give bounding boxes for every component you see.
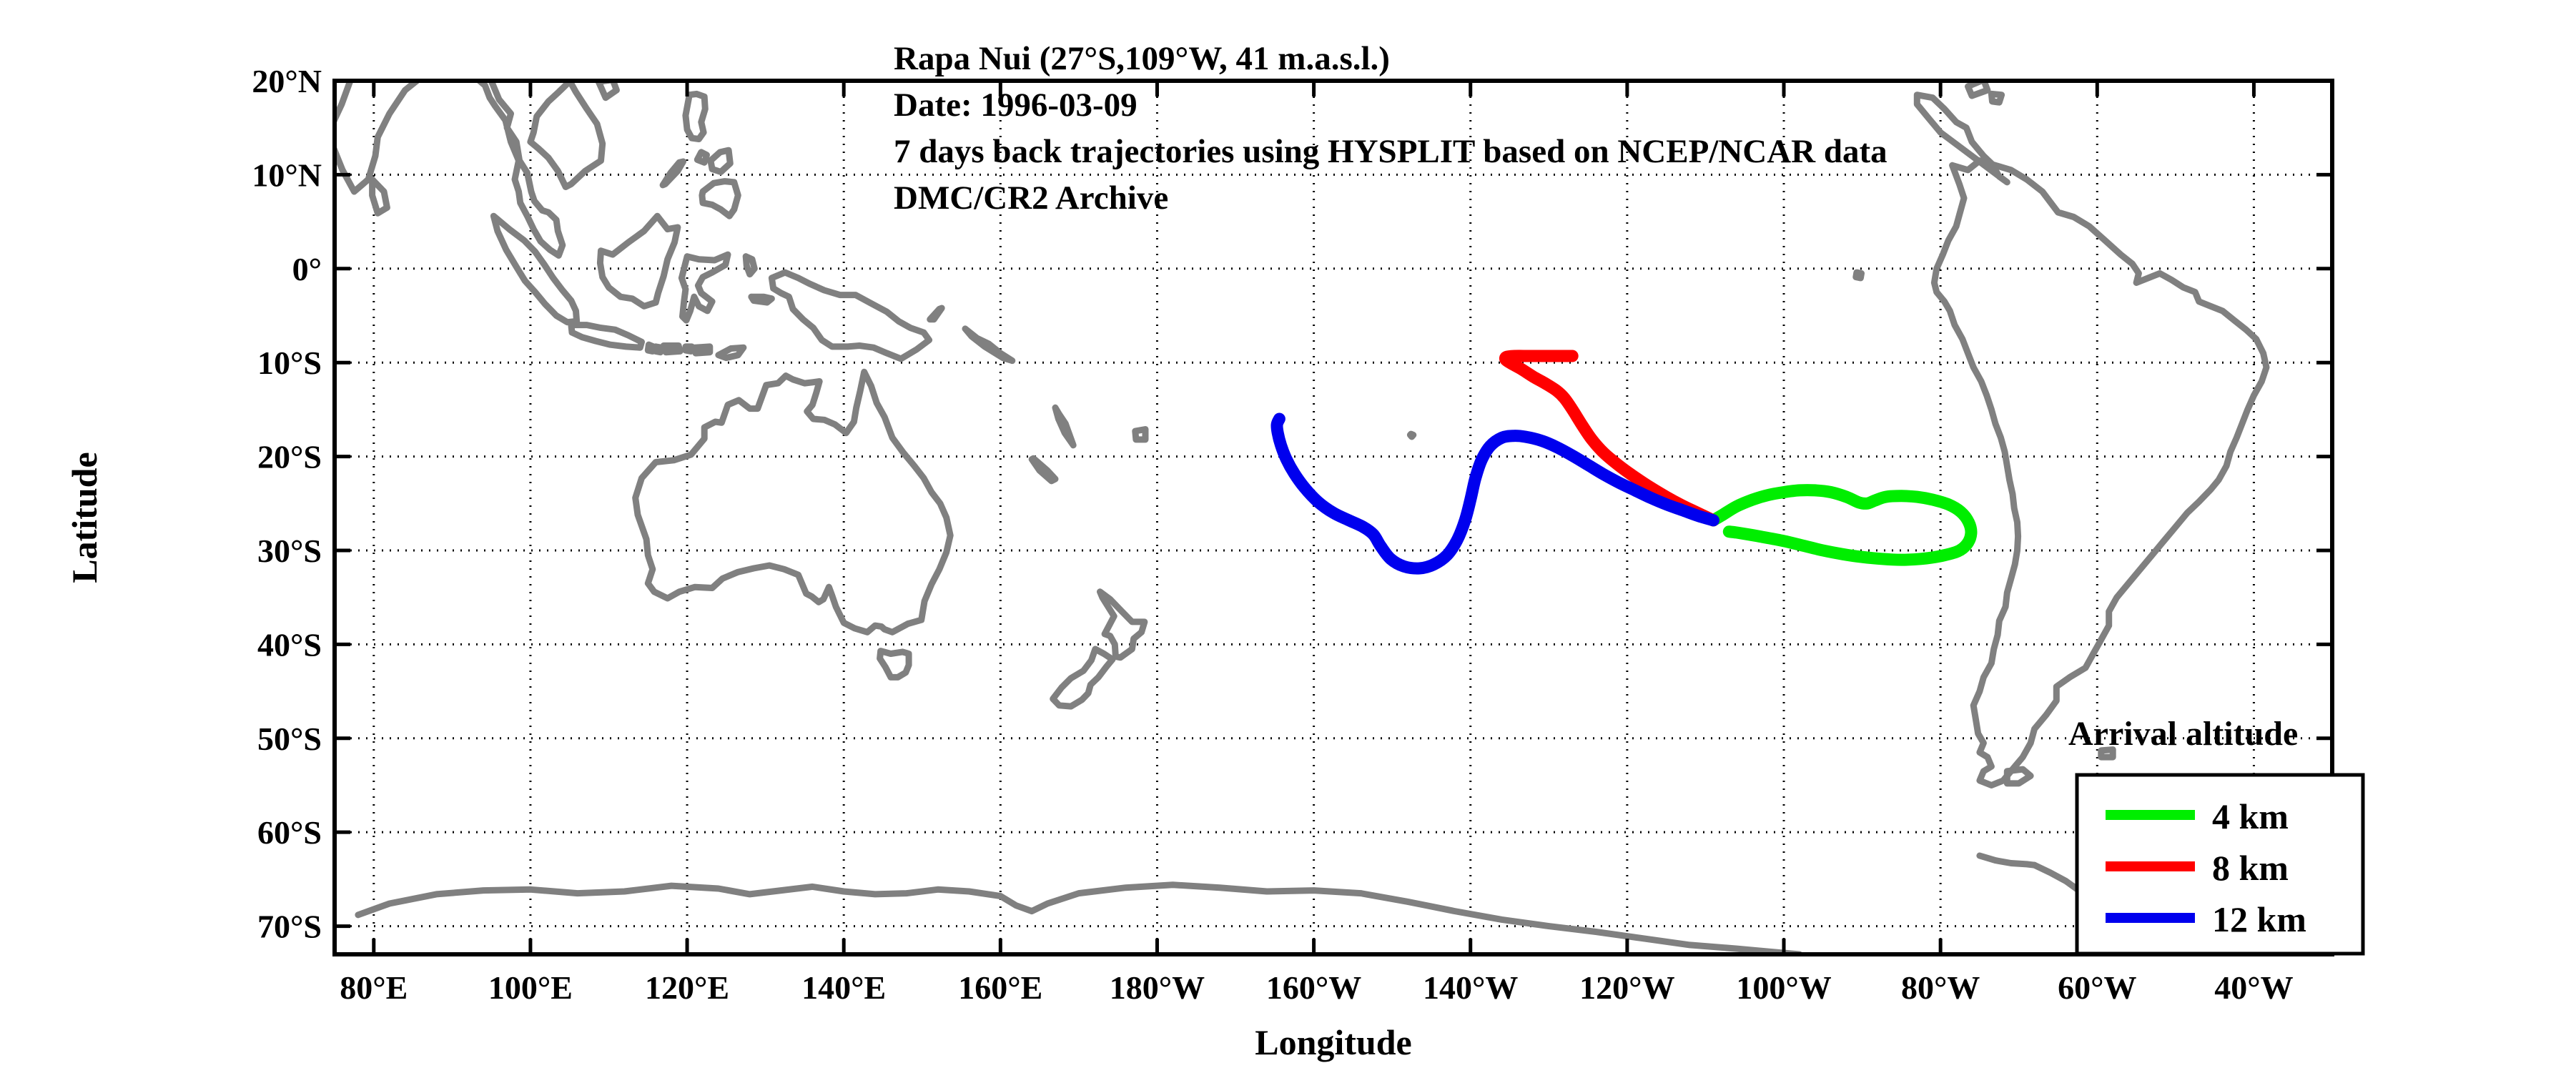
coastline-segment: [686, 347, 692, 352]
x-tick-label: 160°W: [1266, 969, 1361, 1006]
coastline-segment: [695, 347, 710, 353]
coastline-segment: [1410, 434, 1413, 437]
coastline-segment: [751, 297, 772, 302]
y-tick-label: 0°: [292, 251, 322, 287]
y-tick-label: 20°N: [252, 63, 322, 99]
annotation-line-1: Rapa Nui (27°S,109°W, 41 m.a.s.l.): [894, 40, 1390, 77]
y-tick-label: 10°N: [252, 157, 322, 193]
x-tick-label: 80°E: [340, 969, 408, 1006]
x-tick-label: 60°W: [2058, 969, 2136, 1006]
y-tick-label: 30°S: [257, 533, 322, 569]
coastline-segment: [656, 347, 661, 352]
legend-label-4-km: 4 km: [2212, 796, 2289, 836]
x-tick-label: 180°W: [1110, 969, 1205, 1006]
x-tick-label: 120°W: [1579, 969, 1674, 1006]
x-tick-label: 140°E: [801, 969, 886, 1006]
x-tick-label: 120°E: [645, 969, 729, 1006]
x-tick-label: 160°E: [958, 969, 1042, 1006]
y-tick-label: 40°S: [257, 626, 322, 663]
y-tick-label: 70°S: [257, 909, 322, 945]
legend-box[interactable]: 4 km8 km12 km: [2077, 775, 2363, 954]
x-tick-label: 140°W: [1423, 969, 1518, 1006]
annotation-line-2: Date: 1996-03-09: [894, 86, 1138, 124]
figure-canvas: 80°E100°E120°E140°E160°E180°W160°W140°W1…: [0, 0, 2576, 1073]
legend-label-8-km: 8 km: [2212, 848, 2289, 888]
y-tick-label: 60°S: [257, 814, 322, 851]
y-tick-label: 50°S: [257, 721, 322, 757]
y-tick-label: 20°S: [257, 439, 322, 475]
legend-title: Arrival altitude: [2068, 715, 2298, 753]
annotation-line-3: 7 days back trajectories using HYSPLIT b…: [894, 133, 1887, 170]
x-tick-label: 80°W: [1901, 969, 1980, 1006]
x-tick-label: 40°W: [2214, 969, 2293, 1006]
coastline-segment: [663, 346, 680, 352]
x-axis-title: Longitude: [1255, 1022, 1412, 1062]
annotation-line-4: DMC/CR2 Archive: [894, 179, 1168, 217]
coastline-segment: [1856, 272, 1862, 278]
y-tick-label: 10°S: [257, 345, 322, 381]
coastline-segment: [697, 152, 706, 162]
x-tick-label: 100°E: [488, 969, 573, 1006]
legend-label-12-km: 12 km: [2212, 899, 2306, 939]
y-axis-title: Latitude: [64, 452, 104, 583]
trajectory-map-figure: 80°E100°E120°E140°E160°E180°W160°W140°W1…: [0, 0, 2576, 1073]
x-tick-label: 100°W: [1736, 969, 1831, 1006]
